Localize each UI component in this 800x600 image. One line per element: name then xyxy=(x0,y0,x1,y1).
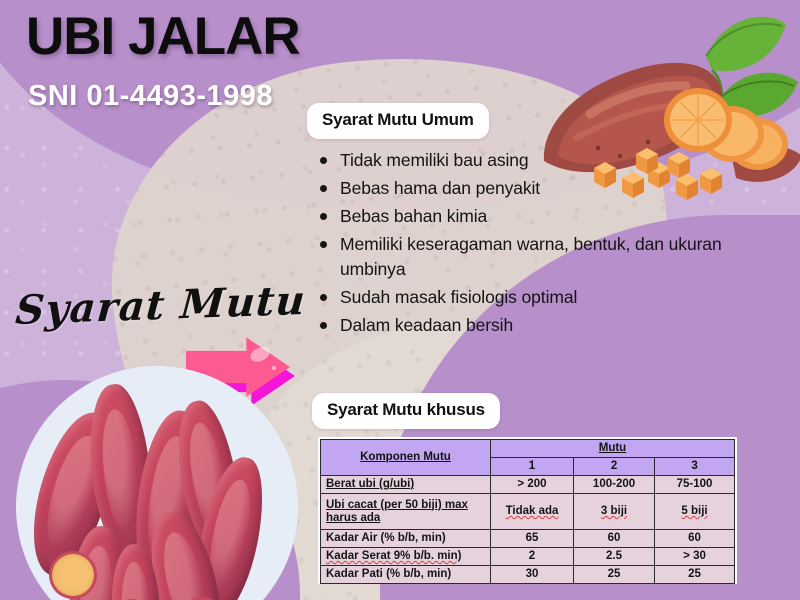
list-item-label: Memiliki keseragaman warna, bentuk, dan … xyxy=(340,232,746,282)
list-item-label: Bebas bahan kimia xyxy=(340,204,487,229)
list-item: Dalam keadaan bersih xyxy=(310,313,746,338)
table-header-grade-1: 1 xyxy=(490,458,573,476)
bullet-dot-icon xyxy=(320,322,327,329)
row-value: 3 biji xyxy=(574,494,655,530)
row-value: > 30 xyxy=(655,548,735,566)
pill-syarat-mutu-umum: Syarat Mutu Umum xyxy=(307,103,489,139)
table-row: Ubi cacat (per 50 biji) max harus ada Ti… xyxy=(321,494,735,530)
row-value: 5 biji xyxy=(655,494,735,530)
infographic-canvas: UBI JALAR SNI 01-4493-1998 xyxy=(0,0,800,600)
page-subtitle: SNI 01-4493-1998 xyxy=(28,80,273,113)
list-item: Bebas hama dan penyakit xyxy=(310,176,746,201)
list-item-label: Sudah masak fisiologis optimal xyxy=(340,285,577,310)
bullet-dot-icon xyxy=(320,185,327,192)
bullet-dot-icon xyxy=(320,213,327,220)
table-row: Berat ubi (g/ubi) > 200 100-200 75-100 xyxy=(321,476,735,494)
list-item-label: Tidak memiliki bau asing xyxy=(340,148,529,173)
row-value: 25 xyxy=(574,566,655,584)
row-label: Berat ubi (g/ubi) xyxy=(321,476,491,494)
syarat-mutu-khusus-table: Komponen Mutu Mutu 1 2 3 Berat ubi (g/ub… xyxy=(318,437,737,584)
arrow-dot xyxy=(272,366,276,370)
table-header-grade-3: 3 xyxy=(655,458,735,476)
table-row: Kadar Air (% b/b, min) 65 60 60 xyxy=(321,530,735,548)
table-header-grade-2: 2 xyxy=(574,458,655,476)
list-item-label: Dalam keadaan bersih xyxy=(340,313,513,338)
row-label: Ubi cacat (per 50 biji) max harus ada xyxy=(321,494,491,530)
table-row: Kadar Pati (% b/b, min) 30 25 25 xyxy=(321,566,735,584)
list-item: Sudah masak fisiologis optimal xyxy=(310,285,746,310)
pill-syarat-mutu-khusus: Syarat Mutu khusus xyxy=(312,393,500,429)
row-value: 60 xyxy=(655,530,735,548)
table-header-mutu: Mutu xyxy=(490,440,734,458)
bullet-dot-icon xyxy=(320,294,327,301)
page-title: UBI JALAR xyxy=(26,10,300,63)
row-value: 2.5 xyxy=(574,548,655,566)
row-label: Kadar Air (% b/b, min) xyxy=(321,530,491,548)
table-header-komponen: Komponen Mutu xyxy=(321,440,491,476)
bullet-list-umum: Tidak memiliki bau asing Bebas hama dan … xyxy=(310,148,746,341)
row-value: 2 xyxy=(490,548,573,566)
bullet-dot-icon xyxy=(320,157,327,164)
row-value: 100-200 xyxy=(574,476,655,494)
table-row: Kadar Serat 9% b/b. min) 2 2.5 > 30 xyxy=(321,548,735,566)
list-item: Memiliki keseragaman warna, bentuk, dan … xyxy=(310,232,746,282)
list-item-label: Bebas hama dan penyakit xyxy=(340,176,540,201)
list-item: Bebas bahan kimia xyxy=(310,204,746,229)
row-value: Tidak ada xyxy=(490,494,573,530)
row-label: Kadar Pati (% b/b, min) xyxy=(321,566,491,584)
row-value: > 200 xyxy=(490,476,573,494)
row-value: 25 xyxy=(655,566,735,584)
row-value: 65 xyxy=(490,530,573,548)
row-value: 75-100 xyxy=(655,476,735,494)
list-item: Tidak memiliki bau asing xyxy=(310,148,746,173)
table-header-row-group: Komponen Mutu Mutu xyxy=(321,440,735,458)
row-value: 60 xyxy=(574,530,655,548)
bullet-dot-icon xyxy=(320,241,327,248)
row-label: Kadar Serat 9% b/b. min) xyxy=(321,548,491,566)
row-value: 30 xyxy=(490,566,573,584)
